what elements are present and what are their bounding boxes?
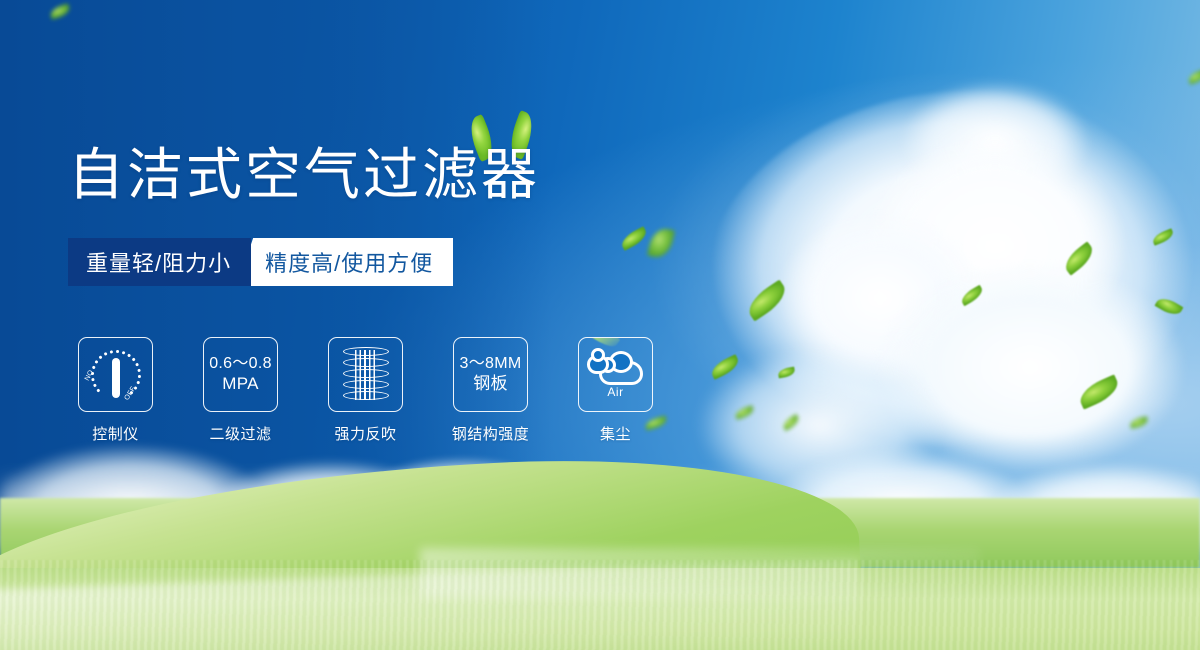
air-label: Air [587, 385, 645, 399]
feature-icon-box: 3～8MM 钢板 [453, 337, 528, 412]
page-title: 自洁式空气过滤器 [68, 145, 540, 205]
feature-item-dust-collection[interactable]: Air 集尘 [578, 337, 653, 444]
coil-spring-icon [343, 347, 389, 403]
grass-texture [0, 560, 1200, 650]
pressure-value-icon: 0.6～0.8 MPA [209, 355, 272, 394]
subtitle-tag-secondary: 精度高/使用方便 [237, 238, 453, 286]
feature-label: 集尘 [600, 423, 631, 444]
subtitle-bar: 重量轻/阻力小 精度高/使用方便 [68, 238, 453, 286]
feature-item-two-stage-filter[interactable]: 0.6～0.8 MPA 二级过滤 [203, 337, 278, 444]
feature-icon-box: Air [578, 337, 653, 412]
gauge-dial-icon: NO OFF [85, 346, 147, 404]
feature-item-steel-strength[interactable]: 3～8MM 钢板 钢结构强度 [453, 337, 528, 444]
feature-label: 二级过滤 [209, 423, 271, 444]
gauge-off-label: OFF [123, 385, 137, 401]
feature-label: 控制仪 [92, 423, 139, 444]
product-hero-banner: 自洁式空气过滤器 重量轻/阻力小 精度高/使用方便 [0, 0, 1200, 650]
cloud-air-icon: Air [587, 349, 645, 401]
thickness-range: 3～8MM [460, 355, 522, 374]
pressure-unit: MPA [209, 374, 272, 394]
thickness-value-icon: 3～8MM 钢板 [460, 355, 522, 394]
feature-icon-box: NO OFF [78, 337, 153, 412]
feature-label: 强力反吹 [334, 423, 396, 444]
feature-item-strong-blowback[interactable]: 强力反吹 [328, 337, 403, 444]
feature-item-controller[interactable]: NO OFF 控制仪 [78, 337, 153, 444]
thickness-material: 钢板 [460, 374, 522, 394]
feature-icon-box [328, 337, 403, 412]
pressure-range: 0.6～0.8 [209, 355, 272, 374]
gauge-needle [112, 358, 120, 398]
feature-icon-box: 0.6～0.8 MPA [203, 337, 278, 412]
feature-list: NO OFF 控制仪 0.6～0.8 MPA 二级过滤 [78, 337, 653, 444]
feature-label: 钢结构强度 [452, 423, 530, 444]
subtitle-tag-primary: 重量轻/阻力小 [68, 238, 251, 286]
